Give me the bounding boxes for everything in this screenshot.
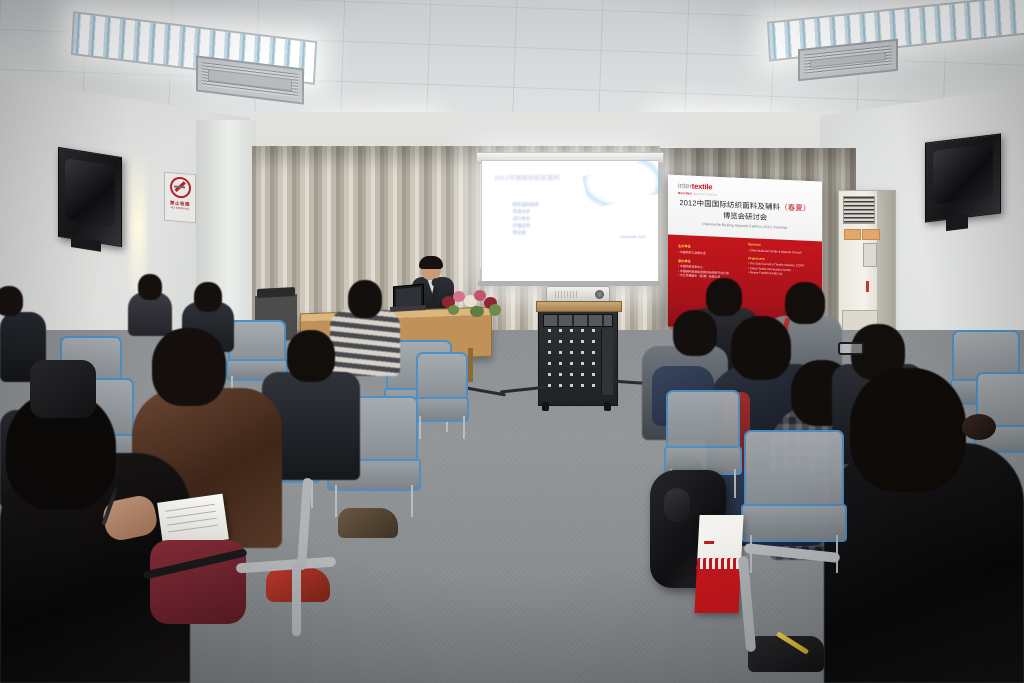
flower-arrangement xyxy=(440,288,502,320)
banner-left-item-1: 中国纺织工业联合会 xyxy=(678,249,734,256)
shopping-bag-logo xyxy=(704,541,714,544)
person-head xyxy=(0,286,23,316)
head-table-leg-right xyxy=(468,348,473,382)
chair-empty[interactable] xyxy=(416,352,464,430)
no-smoking-icon xyxy=(170,176,191,199)
banner-title-season: （春夏） xyxy=(780,203,810,213)
ac-red-sticker xyxy=(866,281,869,292)
speaker-cone xyxy=(65,158,115,227)
av-cart-equipment-strip xyxy=(543,314,613,327)
banner-logo-part-b: textile xyxy=(692,182,713,192)
no-smoking-en-label: NO SMOKING xyxy=(171,206,190,211)
glasses-icon xyxy=(838,342,864,355)
hair-tie xyxy=(962,414,996,440)
ac-label-right xyxy=(862,229,880,240)
av-cart-top-surface xyxy=(536,301,622,312)
banner-logo-wordmark: intertextile xyxy=(678,181,717,192)
projector-vent xyxy=(555,291,577,298)
projection-screen: 2012中国国际纺织面料 · 纺织面料趋势 · 市场分析 · 流行色彩 · 纤维… xyxy=(481,160,659,284)
person-head xyxy=(287,330,335,382)
banner-right-column: Sponsor China National Textile & Apparel… xyxy=(748,242,818,278)
notepad-line xyxy=(165,504,215,512)
projector-lens-icon xyxy=(595,290,604,299)
chair-legs xyxy=(419,416,465,439)
banner-left-column: 主办单位 中国纺织工业联合会 承办单位 中国纺织信息中心 中国国际贸易促进委员会… xyxy=(678,243,734,280)
av-cart-caster-right xyxy=(604,402,611,411)
speaker-cone xyxy=(933,143,992,205)
wall-speaker-left-icon xyxy=(58,147,122,247)
banner-logo-part-a: inter xyxy=(678,181,692,191)
notepad-line xyxy=(167,518,217,526)
slide-footer: Intertextile 2012 xyxy=(620,235,646,239)
shopping-bag-pattern xyxy=(697,558,742,569)
flower-leaf xyxy=(489,304,501,316)
person-head xyxy=(348,280,382,318)
coat-on-chair xyxy=(30,360,96,418)
person-head xyxy=(850,368,966,492)
brown-shoe xyxy=(338,508,398,538)
notepad-line xyxy=(168,525,218,533)
chair-frame-leg xyxy=(292,562,301,636)
flower-leaf xyxy=(470,306,484,317)
audience-person-foreground-right xyxy=(824,368,1024,683)
ac-side-panel xyxy=(877,191,895,336)
ac-control-panel[interactable] xyxy=(863,243,877,267)
floor-air-conditioner xyxy=(838,190,896,337)
ac-vent-louvers xyxy=(843,196,875,224)
banner-logo-sub-city: BEIJING xyxy=(678,191,692,196)
presenter-hair xyxy=(419,256,443,269)
chair-occupied[interactable] xyxy=(744,430,840,558)
conference-room-photo: 禁止吸烟 NO SMOKING 2012中国国际纺织面料 · 纺织面料趋势 · … xyxy=(0,0,1024,683)
ac-label-left xyxy=(844,229,861,240)
banner-logo: intertextile BEIJING Apparel Fabrics xyxy=(678,181,717,197)
flower-leaf xyxy=(448,305,459,315)
shopping-bag xyxy=(694,515,743,613)
av-cart-perforated-panel xyxy=(544,329,601,395)
person-head xyxy=(138,274,162,300)
person-head xyxy=(194,282,222,312)
av-cart-caster-left xyxy=(542,402,549,411)
speaker-bracket xyxy=(946,214,968,231)
no-smoking-sign: 禁止吸烟 NO SMOKING xyxy=(164,172,196,224)
slide-title: 2012中国国际纺织面料 xyxy=(494,173,560,182)
av-cart xyxy=(538,308,618,406)
chair-back xyxy=(744,430,844,513)
slide-swirl-graphic xyxy=(582,155,662,209)
chair-back xyxy=(666,390,740,454)
slide-bullets: · 纺织面料趋势 · 市场分析 · 流行色彩 · 纤维应用 · 供应链 xyxy=(510,201,539,236)
av-cart-door[interactable] xyxy=(601,329,613,395)
notepad-line xyxy=(166,511,216,519)
wall-speaker-right-icon xyxy=(925,133,1001,222)
audience-person xyxy=(128,274,172,336)
